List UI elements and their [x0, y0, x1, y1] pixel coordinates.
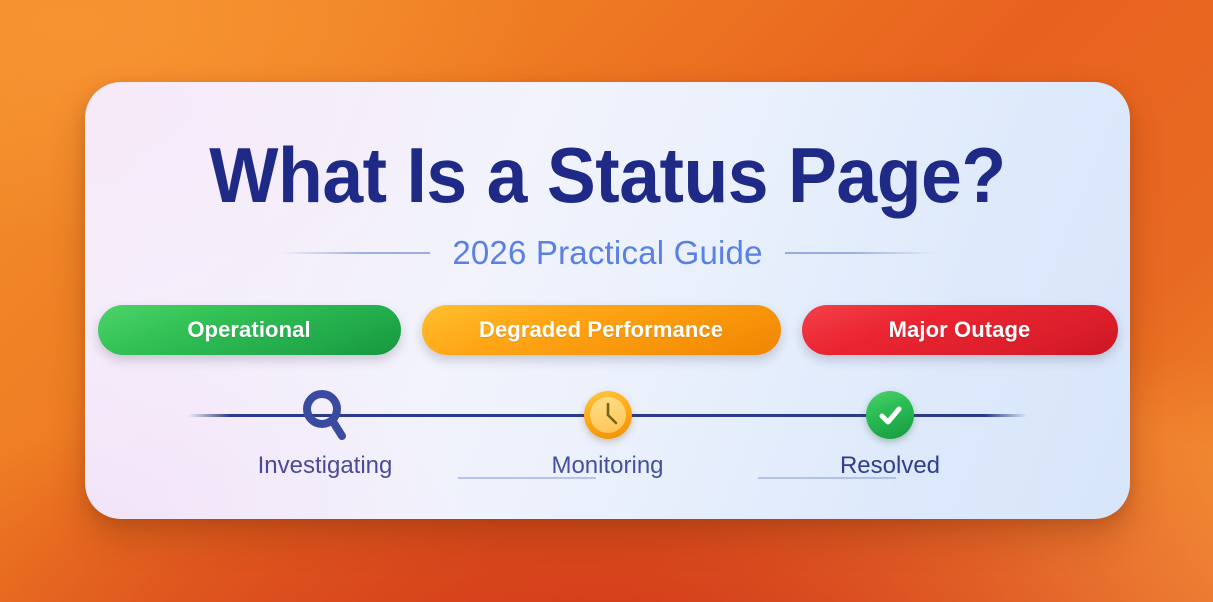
timeline-stage-label-resolved: Resolved	[840, 452, 940, 480]
timeline-stage-investigating[interactable]: Investigating	[240, 382, 410, 480]
timeline-stages: Investigating Monitoring	[188, 382, 1027, 480]
clock-icon	[584, 382, 632, 448]
status-pill-operational[interactable]: Operational	[98, 305, 401, 355]
page-subtitle: 2026 Practical Guide	[452, 234, 762, 272]
timeline-stage-label-monitoring: Monitoring	[551, 452, 663, 480]
subtitle-row: 2026 Practical Guide	[85, 234, 1130, 272]
subtitle-rule-right	[785, 252, 935, 254]
page-title: What Is a Status Page?	[116, 136, 1098, 214]
timeline-stage-monitoring[interactable]: Monitoring	[523, 382, 693, 480]
check-circle-icon	[866, 382, 914, 448]
status-pill-degraded-performance[interactable]: Degraded Performance	[422, 305, 781, 355]
timeline-stage-resolved[interactable]: Resolved	[805, 382, 975, 480]
status-page-card: What Is a Status Page? 2026 Practical Gu…	[85, 82, 1130, 519]
timeline-stage-label-investigating: Investigating	[258, 452, 393, 480]
magnifying-glass-icon	[299, 382, 351, 448]
status-pill-row: Operational Degraded Performance Major O…	[85, 305, 1130, 355]
status-pill-major-outage[interactable]: Major Outage	[802, 305, 1118, 355]
incident-timeline: Investigating Monitoring	[188, 382, 1027, 492]
subtitle-rule-left	[280, 252, 430, 254]
